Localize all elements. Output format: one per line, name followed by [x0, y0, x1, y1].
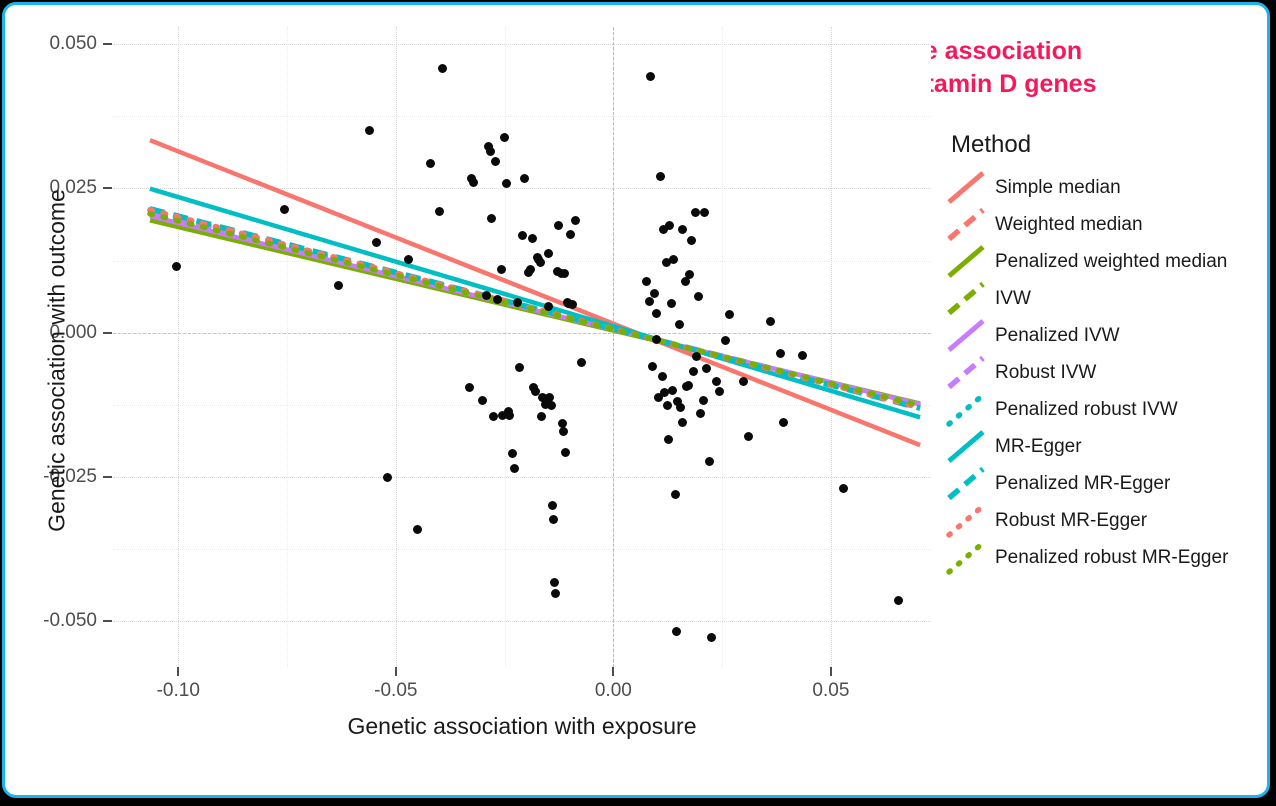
legend-item[interactable]: Penalized robust MR-Egger [945, 539, 1265, 576]
x-tick-mark [830, 667, 832, 676]
scatter-point [469, 178, 478, 187]
y-tick-mark [103, 332, 112, 334]
scatter-point [652, 335, 661, 344]
scatter-point [684, 381, 693, 390]
scatter-point [544, 249, 553, 258]
scatter-point [646, 72, 655, 81]
legend-key-dotted-line-icon [945, 502, 989, 539]
chart-card: Stroke association with Vitamin D genes … [2, 2, 1270, 798]
legend-item[interactable]: MR-Egger [945, 428, 1265, 465]
legend-label: Simple median [995, 177, 1121, 199]
scatter-point [671, 490, 680, 499]
scatter-point [528, 234, 537, 243]
x-tick-mark [395, 667, 397, 676]
scatter-point [571, 216, 580, 225]
scatter-point [526, 265, 535, 274]
scatter-point [702, 364, 711, 373]
scatter-point [549, 515, 558, 524]
scatter-point [678, 418, 687, 427]
scatter-point [493, 295, 502, 304]
scatter-point [568, 300, 577, 309]
legend-label: Penalized robust MR-Egger [995, 547, 1228, 569]
y-tick-mark [103, 187, 112, 189]
legend-key-dotted-line-icon [945, 391, 989, 428]
scatter-point [491, 157, 500, 166]
x-tick-label: -0.05 [374, 680, 417, 702]
scatter-point [672, 627, 681, 636]
legend-label: Robust IVW [995, 362, 1096, 384]
scatter-point [513, 298, 522, 307]
scatter-point [766, 317, 775, 326]
scatter-point [435, 207, 444, 216]
scatter-point [520, 174, 529, 183]
scatter-point [486, 147, 495, 156]
scatter-point [712, 377, 721, 386]
regression-line [150, 214, 920, 406]
scatter-point [438, 64, 447, 73]
scatter-point [280, 205, 289, 214]
x-axis-title: Genetic association with exposure [113, 713, 931, 740]
legend-label: Weighted median [995, 214, 1143, 236]
legend-item[interactable]: Robust MR-Egger [945, 502, 1265, 539]
scatter-point [577, 358, 586, 367]
scatter-point [502, 179, 511, 188]
legend-key-dashed-line-icon [945, 280, 989, 317]
scatter-point [372, 238, 381, 247]
scatter-point [663, 401, 672, 410]
scatter-point [691, 208, 700, 217]
scatter-point [489, 412, 498, 421]
legend-item[interactable]: Penalized robust IVW [945, 391, 1265, 428]
scatter-point [383, 473, 392, 482]
scatter-point [642, 277, 651, 286]
legend-key-solid-line-icon [945, 243, 989, 280]
regression-lines-layer [113, 27, 931, 667]
x-tick-mark [612, 667, 614, 676]
scatter-point [744, 432, 753, 441]
legend-title: Method [951, 131, 1265, 159]
scatter-point [668, 386, 677, 395]
y-tick-mark [103, 620, 112, 622]
legend: Method Simple medianWeighted medianPenal… [945, 131, 1265, 576]
scatter-point [497, 265, 506, 274]
legend-items: Simple medianWeighted medianPenalized we… [945, 169, 1265, 576]
scatter-point [536, 258, 545, 267]
scatter-point [894, 596, 903, 605]
legend-label: Penalized IVW [995, 325, 1120, 347]
y-tick-mark [103, 476, 112, 478]
scatter-point [664, 435, 673, 444]
x-tick-label: 0.05 [812, 680, 849, 702]
scatter-point [537, 412, 546, 421]
scatter-point [482, 291, 491, 300]
scatter-point [667, 299, 676, 308]
x-axis: -0.10-0.050.000.05 [113, 667, 931, 717]
scatter-point [658, 372, 667, 381]
legend-key-solid-line-icon [945, 317, 989, 354]
x-tick-label: -0.10 [157, 680, 200, 702]
legend-key-solid-line-icon [945, 169, 989, 206]
legend-item[interactable]: Penalized MR-Egger [945, 465, 1265, 502]
legend-label: Robust MR-Egger [995, 510, 1147, 532]
scatter-point [561, 448, 570, 457]
legend-item[interactable]: Penalized IVW [945, 317, 1265, 354]
scatter-point [413, 525, 422, 534]
legend-key-solid-line-icon [945, 428, 989, 465]
scatter-point [675, 320, 684, 329]
legend-item[interactable]: Weighted median [945, 206, 1265, 243]
scatter-point [518, 231, 527, 240]
scatter-point [426, 159, 435, 168]
legend-item[interactable]: Robust IVW [945, 354, 1265, 391]
legend-item[interactable]: IVW [945, 280, 1265, 317]
scatter-point [172, 262, 181, 271]
scatter-point [694, 292, 703, 301]
legend-key-dashed-line-icon [945, 354, 989, 391]
scatter-point [547, 401, 556, 410]
scatter-point [487, 214, 496, 223]
scatter-point [560, 269, 569, 278]
scatter-point [648, 362, 657, 371]
legend-label: Penalized weighted median [995, 251, 1227, 273]
regression-line [150, 140, 920, 445]
screenshot-root: Stroke association with Vitamin D genes … [0, 0, 1276, 806]
legend-label: Penalized MR-Egger [995, 473, 1170, 495]
scatter-point [505, 411, 514, 420]
scatter-point [510, 464, 519, 473]
y-axis-title: Genetic association with outcome [44, 41, 71, 681]
legend-label: IVW [995, 288, 1031, 310]
scatter-point [687, 236, 696, 245]
scatter-point [705, 457, 714, 466]
legend-key-dotted-line-icon [945, 539, 989, 576]
legend-label: Penalized robust IVW [995, 399, 1178, 421]
scatter-point [404, 255, 413, 264]
x-tick-label: 0.00 [595, 680, 632, 702]
plot-panel [113, 27, 931, 667]
legend-label: MR-Egger [995, 436, 1082, 458]
legend-key-dashed-line-icon [945, 465, 989, 502]
x-tick-mark [177, 667, 179, 676]
legend-item[interactable]: Penalized weighted median [945, 243, 1265, 280]
legend-key-dashed-line-icon [945, 206, 989, 243]
legend-item[interactable]: Simple median [945, 169, 1265, 206]
scatter-point [699, 396, 708, 405]
scatter-point [645, 297, 654, 306]
scatter-point [650, 289, 659, 298]
y-tick-mark [103, 43, 112, 45]
scatter-point [548, 501, 557, 510]
